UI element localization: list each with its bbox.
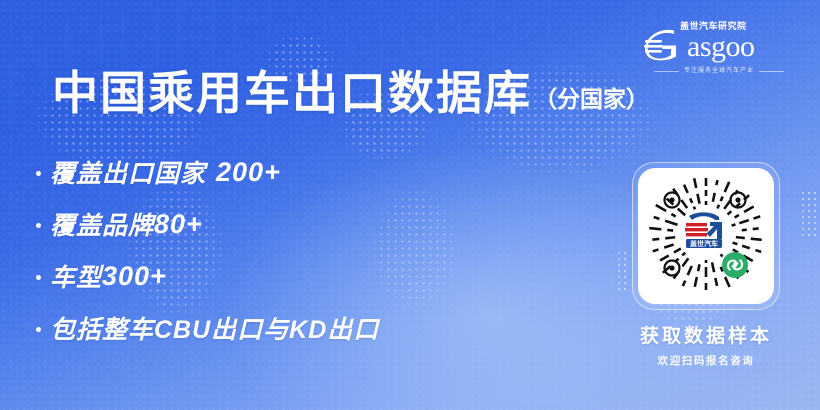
gasgoo-logo: 盖世汽车研究院 asgoo 专注服务全球汽车产业: [644, 22, 784, 74]
logo-tagline-row: 专注服务全球汽车产业: [654, 68, 784, 74]
logo-tagline: 专注服务全球汽车产业: [684, 68, 754, 74]
bullet-label: 包括整车CBU出口与KD出口: [50, 310, 379, 346]
promo-banner: 盖世汽车研究院 asgoo 专注服务全球汽车产业 中国乘用车出口数据库 （分国家…: [0, 0, 820, 410]
title-main-text: 中国乘用车出口数据库: [52, 70, 532, 116]
bullet-label: 覆盖品牌: [50, 206, 154, 242]
logo-rule-right: [759, 71, 784, 72]
svg-text:盖世汽车: 盖世汽车: [690, 239, 718, 248]
deco-dots-right: [800, 190, 818, 236]
bullet-dot-icon: [36, 327, 41, 332]
list-item: 包括整车CBU出口与KD出口: [36, 302, 379, 354]
qr-card[interactable]: 盖世汽车: [638, 168, 774, 304]
qr-note: 欢迎扫码报名咨询: [620, 353, 792, 368]
list-item: 覆盖出口国家 200+: [36, 146, 379, 198]
qr-panel: 盖世汽车 获取数据样本 欢迎扫码报名咨询: [620, 162, 792, 368]
feature-list: 覆盖出口国家 200+ 覆盖品牌 80+ 车型 300+ 包括整车CBU出口与K…: [36, 146, 379, 354]
bullet-value: 80+: [154, 209, 203, 240]
bullet-value: 200+: [216, 157, 281, 188]
wechat-circular-qr-icon: 盖世汽车: [638, 168, 774, 304]
bullet-dot-icon: [36, 223, 41, 228]
list-item: 覆盖品牌 80+: [36, 198, 379, 250]
logo-rule-left: [654, 71, 679, 72]
bullet-dot-icon: [36, 171, 41, 176]
banner-title: 中国乘用车出口数据库 （分国家）: [52, 70, 649, 116]
bullet-dot-icon: [36, 275, 41, 280]
title-sub-text: （分国家）: [534, 88, 649, 111]
bullet-label: 覆盖出口国家: [50, 154, 206, 190]
bullet-value: 300+: [102, 261, 167, 292]
qr-center-logo: 盖世汽车: [685, 212, 722, 248]
qr-card-frame: 盖世汽车: [632, 162, 780, 310]
wechat-miniprogram-icon: [722, 252, 748, 278]
logo-wordmark: asgoo: [644, 29, 784, 65]
gasgoo-g-icon: [644, 29, 688, 65]
logo-word-text: asgoo: [687, 32, 755, 62]
qr-title: 获取数据样本: [620, 321, 792, 348]
bullet-label: 车型: [50, 258, 102, 294]
list-item: 车型 300+: [36, 250, 379, 302]
